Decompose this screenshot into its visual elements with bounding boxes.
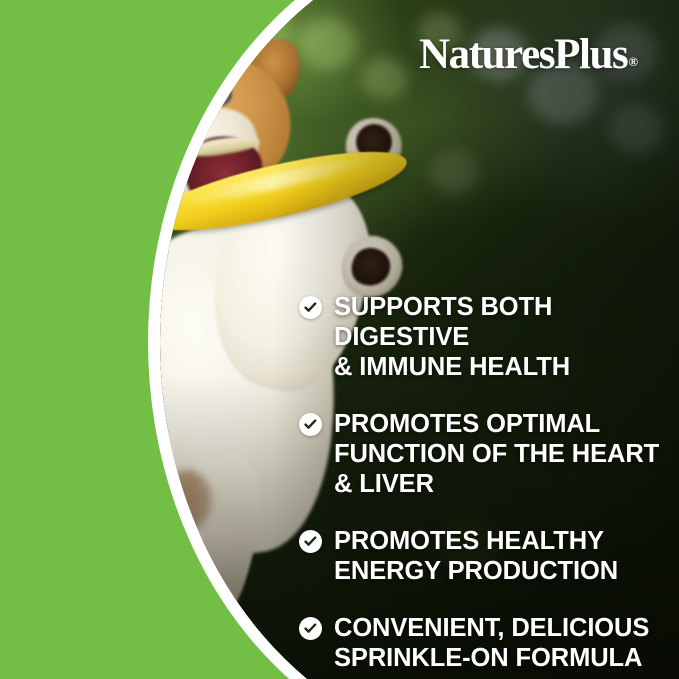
benefit-item: SUPPORTS BOTH DIGESTIVE & IMMUNE HEALTH [299,292,671,382]
product-feature-banner: NaturesPlus® SUPPORTS BOTH DIGESTIVE & I… [0,0,679,679]
benefit-text: CONVENIENT, DELICIOUS SPRINKLE-ON FORMUL… [334,613,649,673]
brand-logo-text: NaturesPlus [419,31,627,78]
benefit-item: CONVENIENT, DELICIOUS SPRINKLE-ON FORMUL… [299,613,671,673]
benefit-item: PROMOTES OPTIMAL FUNCTION OF THE HEART &… [299,409,671,499]
check-circle-icon [299,413,322,436]
benefit-item: PROMOTES HEALTHY ENERGY PRODUCTION [299,526,671,586]
brand-logo: NaturesPlus® [419,33,638,76]
check-circle-icon [299,530,322,553]
dog-fur-patch [160,470,212,532]
check-circle-icon [299,296,322,319]
benefit-text: PROMOTES HEALTHY ENERGY PRODUCTION [334,526,618,586]
benefit-text: PROMOTES OPTIMAL FUNCTION OF THE HEART &… [334,409,659,499]
check-circle-icon [299,617,322,640]
benefit-text: SUPPORTS BOTH DIGESTIVE & IMMUNE HEALTH [334,292,671,382]
registered-trademark-icon: ® [628,54,638,69]
benefits-list: SUPPORTS BOTH DIGESTIVE & IMMUNE HEALTH … [299,292,671,679]
